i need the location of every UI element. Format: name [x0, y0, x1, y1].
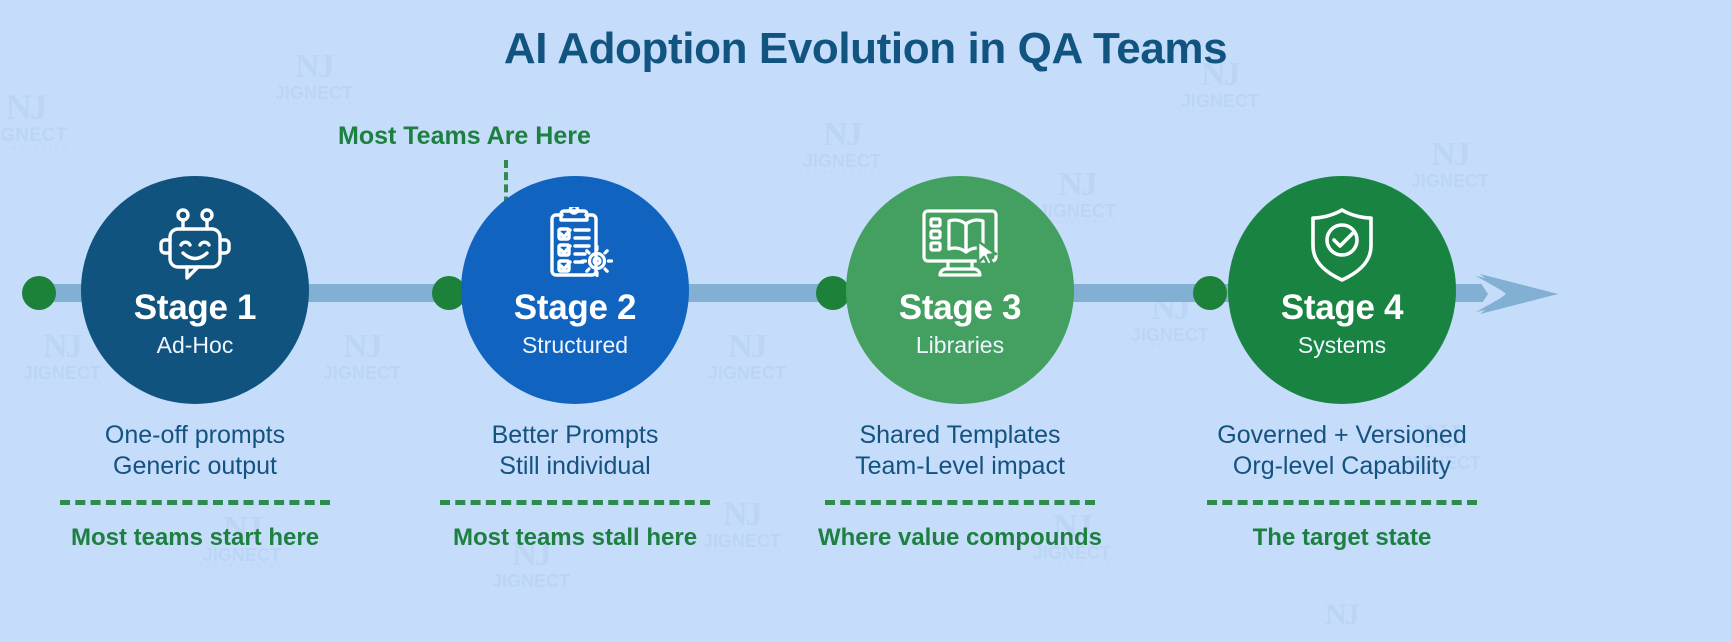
watermark-subtitle: TECHNOLOGIES — [1178, 110, 1262, 116]
watermark-name: JIGNECT — [1131, 326, 1209, 344]
stage-circle-3[interactable]: Stage 3 Libraries — [846, 176, 1074, 404]
watermark-subtitle: TECHNOLOGIES — [1128, 344, 1212, 350]
stage-subtitle: Systems — [1298, 334, 1386, 357]
watermark-subtitle: TECHNOLOGIES — [705, 382, 789, 388]
watermark-name: JIGNECT — [23, 364, 101, 382]
watermark-mark: NJ — [6, 90, 46, 126]
watermark-name: JIGNECT — [0, 126, 67, 145]
stage-subtitle: Structured — [522, 334, 628, 357]
watermark-mark: NJ — [823, 118, 861, 152]
shield-check-icon — [1306, 206, 1378, 284]
stage-divider — [440, 500, 710, 505]
stage-footnote: Most teams start here — [5, 524, 385, 552]
stage-description-line-2: Still individual — [385, 451, 765, 482]
watermark-mark: NJ — [343, 330, 381, 364]
watermark-mark: NJ — [1058, 168, 1096, 202]
watermark-subtitle: TECHNOLOGIES — [0, 145, 69, 152]
stage-description-line-2: Generic output — [5, 451, 385, 482]
stage-circle-2[interactable]: Stage 2 Structured — [461, 176, 689, 404]
watermark: NJ — [1325, 600, 1358, 630]
stage-description: Governed + Versioned Org-level Capabilit… — [1152, 420, 1532, 483]
watermark-mark: NJ — [728, 330, 766, 364]
stage-divider — [825, 500, 1095, 505]
watermark: NJ JIGNECT TECHNOLOGIES — [1408, 138, 1492, 196]
stage-footnote: Most teams stall here — [385, 524, 765, 552]
stage-subtitle: Libraries — [916, 334, 1004, 357]
stage-divider — [60, 500, 330, 505]
watermark-subtitle: TECHNOLOGIES — [20, 382, 104, 388]
stage-description-line-2: Org-level Capability — [1152, 451, 1532, 482]
stage-circle-4[interactable]: Stage 4 Systems — [1228, 176, 1456, 404]
watermark-mark: NJ — [1325, 600, 1358, 630]
stage-title: Stage 4 — [1281, 290, 1403, 325]
watermark-subtitle: TECHNOLOGIES — [1030, 562, 1114, 568]
watermark: NJ JIGNECT TECHNOLOGIES — [0, 90, 69, 152]
watermark-name: JIGNECT — [803, 152, 881, 170]
timeline-arrowhead-icon — [1470, 244, 1560, 344]
stage-description-line-1: Shared Templates — [770, 420, 1150, 451]
watermark-subtitle: TECHNOLOGIES — [200, 564, 284, 570]
watermark-subtitle: TECHNOLOGIES — [800, 170, 884, 176]
watermark-name: JIGNECT — [323, 364, 401, 382]
timeline-node-dot — [22, 276, 56, 310]
stage-description-line-1: Governed + Versioned — [1152, 420, 1532, 451]
clipboard-checklist-gear-icon — [535, 206, 615, 284]
monitor-book-cursor-icon — [918, 206, 1002, 284]
watermark-name: JIGNECT — [708, 364, 786, 382]
stage-description-line-2: Team-Level impact — [770, 451, 1150, 482]
watermark-subtitle: TECHNOLOGIES — [1408, 190, 1492, 196]
watermark-subtitle: TECHNOLOGIES — [272, 102, 356, 108]
stage-description-line-1: Better Prompts — [385, 420, 765, 451]
watermark-mark: NJ — [1431, 138, 1469, 172]
watermark-subtitle: TECHNOLOGIES — [320, 382, 404, 388]
page-title: AI Adoption Evolution in QA Teams — [0, 24, 1731, 74]
stage-divider — [1207, 500, 1477, 505]
watermark-name: JIGNECT — [1411, 172, 1489, 190]
stage-footnote: Where value compounds — [770, 524, 1150, 552]
timeline-node-dot — [1193, 276, 1227, 310]
stage-footnote: The target state — [1152, 524, 1532, 552]
timeline-node-dot — [816, 276, 850, 310]
stage-circle-1[interactable]: Stage 1 Ad-Hoc — [81, 176, 309, 404]
callout-label: Most Teams Are Here — [338, 122, 591, 151]
watermark: NJ JIGNECT TECHNOLOGIES — [320, 330, 404, 388]
stage-title: Stage 2 — [514, 290, 636, 325]
stage-subtitle: Ad-Hoc — [157, 334, 234, 357]
stage-description: Better Prompts Still individual — [385, 420, 765, 483]
stage-description-line-1: One-off prompts — [5, 420, 385, 451]
stage-title: Stage 3 — [899, 290, 1021, 325]
watermark: NJ JIGNECT TECHNOLOGIES — [705, 330, 789, 388]
stage-description: One-off prompts Generic output — [5, 420, 385, 483]
stage-title: Stage 1 — [134, 290, 256, 325]
watermark-name: JIGNECT — [1038, 202, 1116, 220]
watermark: NJ JIGNECT TECHNOLOGIES — [800, 118, 884, 176]
robot-chat-icon — [157, 206, 233, 284]
watermark-name: JIGNECT — [275, 84, 353, 102]
watermark-name: JIGNECT — [492, 572, 570, 590]
stage-description: Shared Templates Team-Level impact — [770, 420, 1150, 483]
watermark-name: JIGNECT — [1181, 92, 1259, 110]
infographic-canvas: NJ JIGNECT TECHNOLOGIES NJ JIGNECT TECHN… — [0, 0, 1731, 642]
watermark-mark: NJ — [43, 330, 81, 364]
